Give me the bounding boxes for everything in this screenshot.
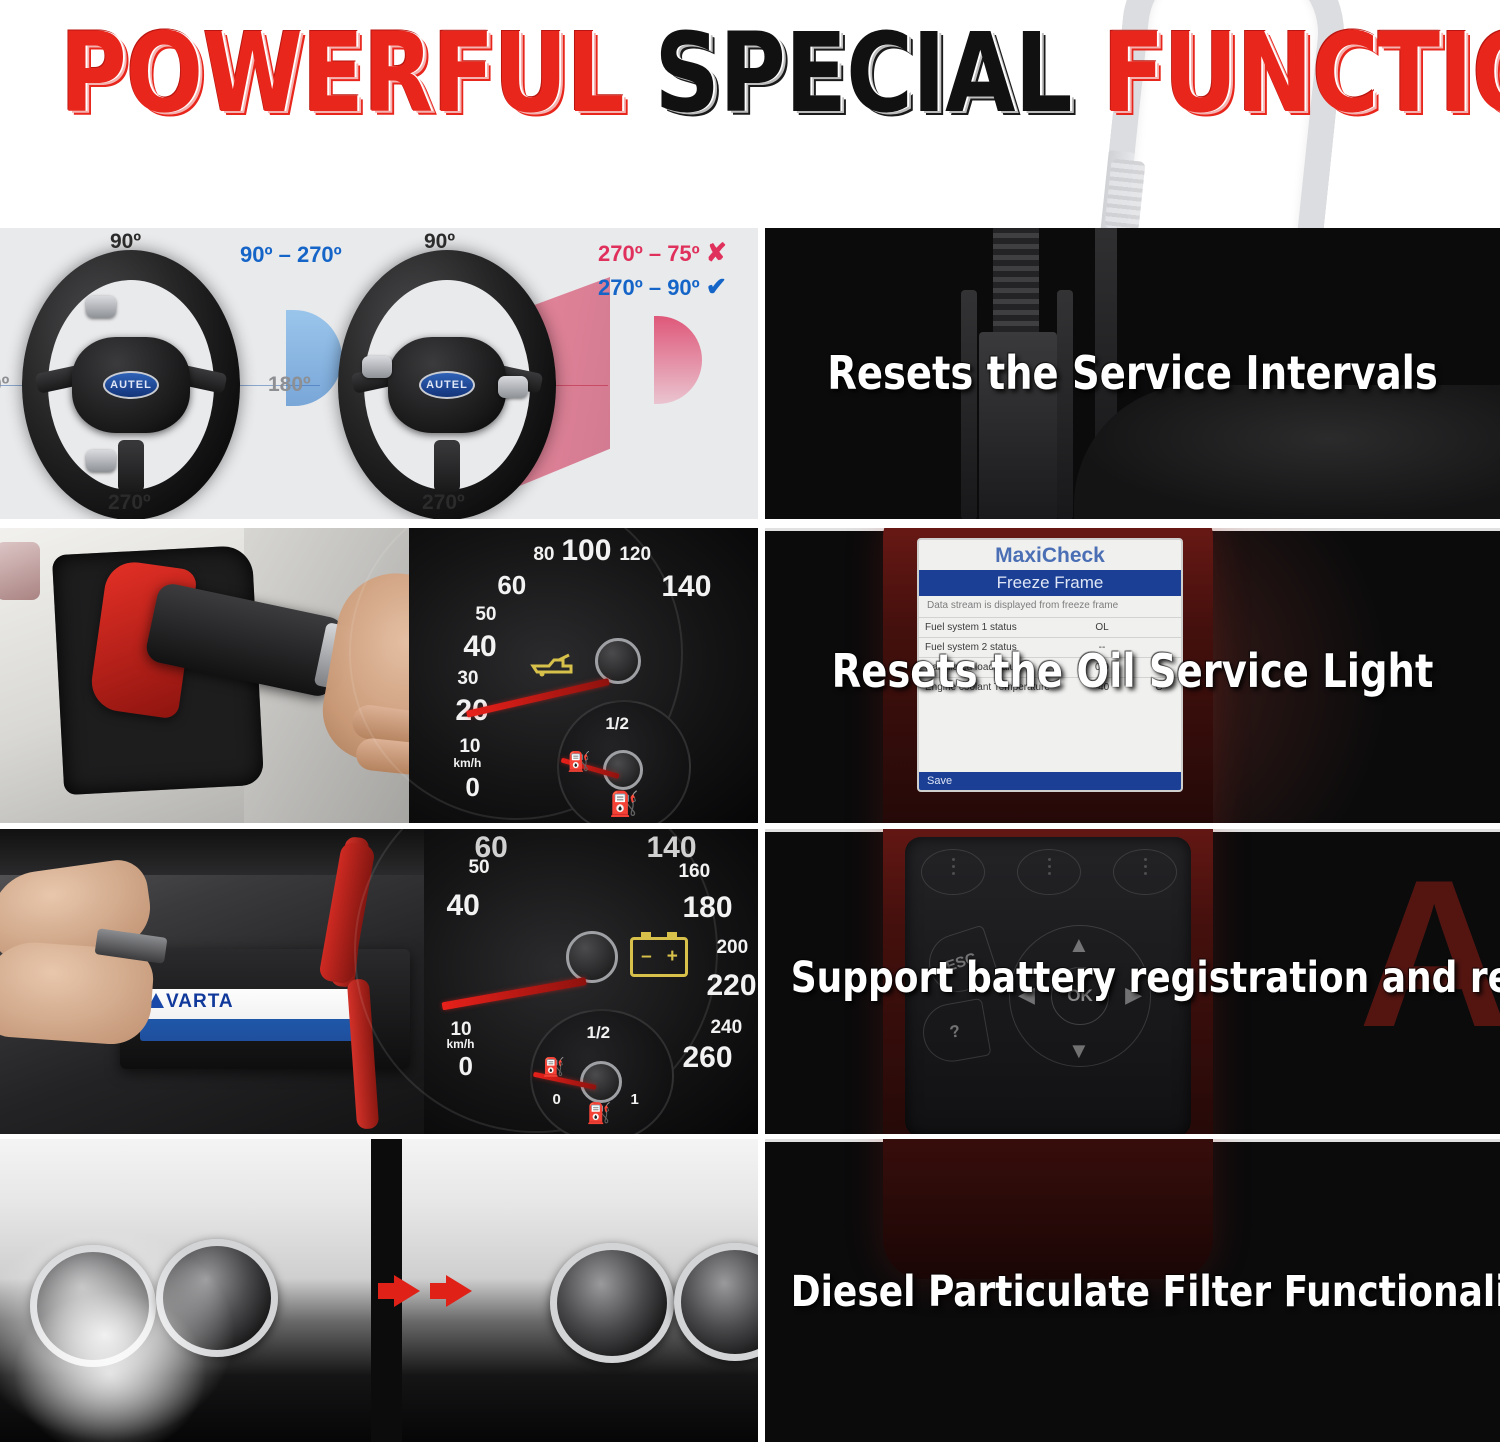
row-label: Fuel system 1 status: [919, 617, 1071, 637]
caption-service-intervals: Resets the Service Intervals: [791, 346, 1475, 400]
instrument-cluster-oil: 80 100 120 140 60 50 40 30 20 10 km/h 0: [409, 528, 758, 823]
label-range-ok: 90º – 270º: [240, 242, 342, 268]
panel-oil-service-light: MaxiCheck Freeze Frame Data stream is di…: [765, 528, 1500, 823]
fuel-half-label: 1/2: [605, 714, 629, 734]
battery-brand-text: VARTA: [140, 989, 355, 1013]
row-value: OL: [1071, 617, 1133, 637]
function-button-3[interactable]: [1113, 849, 1177, 895]
tick-240-b: 240: [710, 1017, 742, 1039]
tick-zero: 0: [465, 772, 479, 803]
unit-kmh: km/h: [453, 756, 481, 770]
cross-mark-icon: ✘: [706, 239, 727, 267]
label-range-good-text: 270º – 90º: [598, 275, 700, 300]
panel-battery-reset: A ESC ? ▲ ▼ ◀ ▶ OK: [765, 829, 1500, 1134]
tick-180-b: 180: [682, 891, 732, 925]
panel-oil-service: 80 100 120 140 60 50 40 30 20 10 km/h 0: [0, 528, 758, 823]
caption-battery-registration: Support battery registration and reset: [791, 953, 1475, 1003]
fuel-pump-arrow-icon: ⛽: [567, 750, 593, 776]
tick-50-b: 50: [468, 857, 489, 879]
tick-100: 100: [561, 534, 611, 568]
panel-dpf-functionality: CE FC ⌧ Diesel Particulate Filter Functi…: [765, 1139, 1500, 1442]
tick-40: 40: [463, 630, 496, 664]
fuel-pump-arrow-icon-b: ⛽: [542, 1057, 568, 1083]
tick-140-b: 140: [646, 831, 696, 865]
arrow-1-icon: [394, 1275, 420, 1307]
steering-wheel-left: AUTEL: [22, 250, 240, 519]
fuel-low-lamp-icon-b: ⛽: [586, 1101, 612, 1127]
label-right-wheel-270: 270º: [422, 491, 465, 515]
arrow-2-stem: [430, 1283, 446, 1299]
tick-40-b: 40: [446, 889, 479, 923]
steering-wheel-right: AUTEL: [338, 250, 556, 519]
panel-steering-angle: AUTEL AUTEL: [0, 228, 758, 519]
car-taillight: [0, 542, 40, 600]
battery-label: VARTA: [140, 989, 355, 1041]
tick-140: 140: [661, 570, 711, 604]
label-180-deg: 180º: [268, 373, 311, 397]
tick-50: 50: [475, 604, 496, 626]
title-word-powerful: POWERFUL: [60, 9, 624, 137]
label-right-wheel-90: 90º: [424, 230, 455, 254]
autel-logo-right-wheel: AUTEL: [419, 371, 475, 399]
fuel-one-label-b: 1: [630, 1091, 638, 1108]
caption-dpf-functionality: Diesel Particulate Filter Functionality: [791, 1267, 1475, 1317]
tick-zero-b: 0: [458, 1051, 472, 1082]
maxicheck-scanner-bottom: CE FC ⌧: [883, 1139, 1213, 1279]
panel-dpf-exhaust: [0, 1139, 758, 1442]
exhaust-before-bumper: [0, 1139, 371, 1442]
fuel-zero-label-b: 0: [552, 1091, 560, 1108]
fuel-low-lamp-icon: ⛽: [609, 790, 635, 816]
product-feature-banner: POWERFUL SPECIAL FUNCTION AUTEL: [0, 0, 1500, 1442]
screen-menu-bar: Freeze Frame: [919, 570, 1181, 596]
function-button-2[interactable]: [1017, 849, 1081, 895]
tick-60: 60: [497, 570, 526, 601]
check-mark-icon: ✔: [706, 273, 727, 301]
exhaust-pipe-right-2: [674, 1243, 758, 1361]
tick-10: 10: [459, 736, 480, 758]
panel-service-intervals: Resets the Service Intervals: [765, 228, 1500, 519]
table-row: Fuel system 1 status OL: [919, 617, 1181, 637]
label-left-wheel-270: 270º: [108, 491, 151, 515]
tick-200-b: 200: [716, 937, 748, 959]
label-left-wheel-90: 90º: [110, 230, 141, 254]
unit-kmh-b: km/h: [446, 1037, 474, 1051]
label-range-bad-text: 270º – 75º: [598, 241, 700, 266]
row-unit: [1133, 617, 1181, 637]
tick-160-b: 160: [678, 861, 710, 883]
tick-220-b: 220: [706, 969, 756, 1003]
title-word-function: FUNCTION: [1102, 9, 1500, 137]
feature-grid: AUTEL AUTEL: [0, 228, 1500, 1442]
car-interior-carpet: [1074, 385, 1500, 519]
label-range-bad: 270º – 75º ✘: [598, 238, 727, 268]
obd-cable-ribbed-section: [1104, 158, 1145, 228]
autel-logo-left-wheel: AUTEL: [103, 371, 159, 399]
fuel-half-label-b: 1/2: [586, 1023, 610, 1043]
screen-title: MaxiCheck: [919, 540, 1181, 570]
screen-note: Data stream is displayed from freeze fra…: [919, 596, 1181, 617]
dpad-down-icon[interactable]: ▼: [1068, 1038, 1090, 1064]
obd-connector-ribs: [993, 228, 1039, 342]
label-zero-deg: 0º: [0, 373, 9, 397]
tick-30: 30: [457, 668, 478, 690]
function-button-1[interactable]: [921, 849, 985, 895]
tick-120: 120: [619, 544, 651, 566]
tick-80: 80: [533, 544, 554, 566]
caption-oil-service-light: Resets the Oil Service Light: [791, 644, 1475, 698]
battery-warning-lamp-icon: –+: [630, 937, 688, 977]
title-word-special: SPECIAL: [654, 9, 1071, 137]
arrow-2-icon: [446, 1275, 472, 1307]
steering-red-mini-sweep: [654, 316, 702, 404]
instrument-cluster-battery: 60 140 50 160 40 180 200 220 240 260 10 …: [424, 829, 758, 1134]
screen-save-button[interactable]: Save: [919, 772, 1181, 790]
exhaust-pipe-right-1: [550, 1243, 674, 1363]
help-button[interactable]: ?: [918, 998, 991, 1066]
page-title: POWERFUL SPECIAL FUNCTION: [60, 18, 1440, 128]
label-range-good: 270º – 90º ✔: [598, 272, 727, 302]
oil-can-lamp-icon: [529, 648, 575, 678]
panel-battery-registration: VARTA 60 140 50 160 40 180 200 220 240: [0, 829, 758, 1134]
speedometer-hub: [595, 638, 641, 684]
arrow-1-stem: [378, 1283, 394, 1299]
header-banner: POWERFUL SPECIAL FUNCTION: [0, 0, 1500, 228]
tick-260-b: 260: [682, 1041, 732, 1075]
